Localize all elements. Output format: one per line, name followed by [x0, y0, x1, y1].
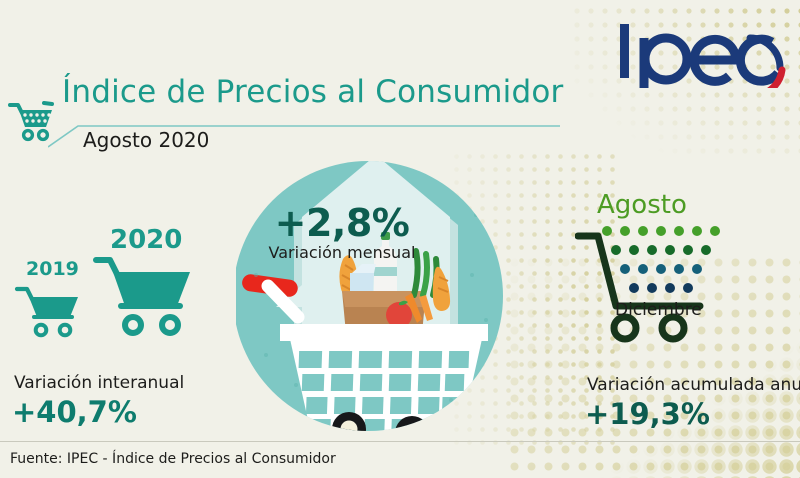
dot-row-3	[620, 264, 702, 274]
infographic-canvas: Ipec Índice de Precios al Consumidor Ago…	[0, 0, 800, 478]
monthly-caption: Variación mensual	[236, 243, 448, 262]
accumulated-value: +19,3%	[585, 397, 710, 431]
ipec-logo: Ipec	[614, 16, 786, 88]
dot-row-2	[611, 245, 711, 255]
footer-divider	[0, 441, 800, 442]
logo-letter-c	[740, 38, 782, 88]
accumulated-panel: Agosto Dicie	[575, 190, 800, 430]
page-title: Índice de Precios al Consumidor	[62, 74, 564, 110]
logo-letter-e	[694, 39, 736, 81]
monthly-illustration	[236, 155, 508, 447]
dot-matrix-cart-icon	[575, 218, 735, 358]
header: Índice de Precios al Consumidor Agosto 2…	[0, 78, 560, 164]
interannual-value: +40,7%	[12, 395, 137, 429]
cart-icon-2019	[14, 281, 86, 343]
year-label-2019: 2019	[26, 258, 79, 280]
month-end-label: Diciembre	[615, 300, 702, 320]
cart-icon-2020	[92, 250, 196, 344]
month-start-label: Agosto	[597, 190, 687, 220]
logo-letter-i	[620, 24, 629, 78]
source-note: Fuente: IPEC - Índice de Precios al Cons…	[10, 451, 336, 467]
monthly-panel: +2,8% Variación mensual	[236, 155, 508, 447]
monthly-value: +2,8%	[236, 201, 448, 245]
logo-letter-p	[644, 38, 687, 88]
interannual-caption: Variación interanual	[14, 373, 184, 393]
dot-row-1	[602, 226, 720, 236]
dot-row-4	[629, 283, 693, 293]
accumulated-caption: Variación acumulada anual	[587, 375, 800, 395]
page-subtitle: Agosto 2020	[83, 128, 209, 152]
interannual-panel: 2019 2020 Variación interanual +40,7%	[0, 225, 230, 440]
